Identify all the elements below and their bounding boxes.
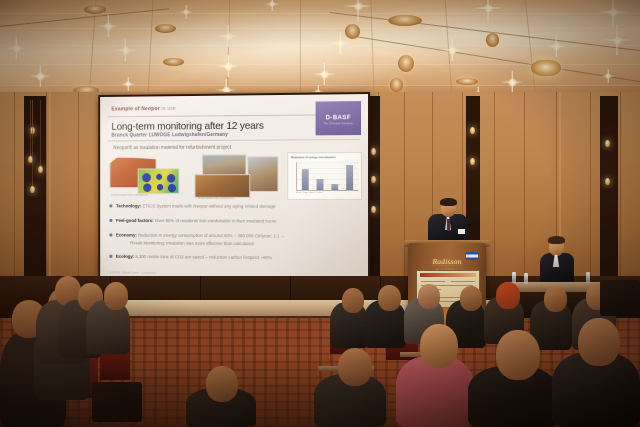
pendant-light: [470, 158, 475, 165]
slide-bullet-3-continuation: Result Monitoring: insulation was more e…: [130, 240, 253, 246]
pendant-light: [605, 140, 610, 147]
bullet-4-key: Ecology:: [116, 254, 134, 259]
bullet-1-key: Technology:: [116, 203, 141, 208]
bullet-3-value: Reduction in energy consumption of aroun…: [138, 233, 285, 239]
slide-title: Long-term monitoring after 12 years: [111, 120, 263, 133]
pendant-light: [30, 186, 35, 193]
slide-eyebrow: Example of Neopor in use: [111, 106, 176, 112]
ceiling: [0, 0, 640, 97]
equipment-case: [600, 280, 640, 316]
slide-photo-thermal-map: [138, 168, 180, 193]
presenter-name-badge: [458, 229, 465, 234]
slide-eyebrow-light: in use: [160, 106, 176, 112]
projection-screen: Example of Neopor in use Long-term monit…: [98, 92, 370, 282]
conference-room-photo: Example of Neopor in use Long-term monit…: [0, 0, 640, 427]
audience-head: [420, 324, 458, 368]
radisson-flag-icon: [466, 252, 478, 260]
audience-head: [496, 330, 540, 380]
wall-alcove: [466, 96, 480, 256]
laptop-bag: [92, 382, 142, 422]
audience-head: [206, 366, 238, 402]
radisson-wordmark: Radisson: [432, 257, 461, 266]
bullet-3-key: Economy:: [116, 233, 137, 238]
water-bottle: [524, 273, 528, 284]
audience-head: [578, 318, 620, 366]
slide-chart-title: Reduction of energy consumption: [291, 155, 336, 159]
slide-subtitle: Brunck Quarter LUWOGE Ludwigshafen/Germa…: [111, 132, 228, 139]
pendant-fixture: [345, 24, 360, 39]
audience-head: [460, 286, 482, 311]
chandelier: [531, 60, 561, 76]
slide-photo-building-1: [202, 154, 246, 176]
photo-caption-brick: Existing facade before refurbishment: [111, 194, 148, 197]
presentation-slide: Example of Neopor in use Long-term monit…: [100, 94, 368, 280]
pendant-fixture: [398, 55, 414, 72]
slide-eyebrow-bold: Example of Neopor: [111, 106, 159, 112]
pendant-light: [470, 127, 475, 134]
audience-head: [378, 285, 401, 311]
pendant-light: [371, 176, 376, 183]
recessed-downlight: [388, 15, 422, 26]
pendant-fixture: [390, 78, 403, 92]
audience-head: [104, 282, 128, 310]
bullet-1-value: ETICS System made with Neopor without an…: [142, 204, 275, 209]
bullet-marker-icon: [109, 234, 112, 237]
recessed-downlight: [163, 58, 184, 66]
basf-logo-text: D·BASF: [316, 114, 361, 121]
slide-chart: Reduction of energy consumption Before T…: [287, 152, 362, 200]
presenter-hair: [440, 198, 457, 206]
wall-alcove: [24, 96, 46, 292]
wall-alcove: [600, 96, 618, 286]
audience-head-red-hair: [496, 282, 520, 309]
panelist-hair: [548, 236, 565, 244]
bullet-marker-icon: [109, 205, 112, 208]
slide-footer: LUWOGE · Brunck Quarter · Ludwigshafen: [109, 271, 156, 274]
bullet-marker-icon: [109, 255, 112, 258]
slide-photo-building-2: [247, 156, 278, 192]
basf-logo: D·BASF The Chemical Company: [316, 101, 361, 135]
basf-logo-tagline: The Chemical Company: [316, 122, 361, 125]
recessed-downlight: [456, 78, 478, 85]
slide-photo-building-3: [195, 174, 251, 198]
bullet-2-value: Over 90% of residents feel comfortable i…: [155, 218, 277, 223]
pendant-light: [371, 206, 376, 213]
slide-bullet-2: Feel-good factors: Over 90% of residents…: [109, 218, 360, 224]
water-bottle: [512, 272, 516, 283]
water-bottle: [586, 272, 590, 283]
slide-lead-line: Neopor® as insulation material for refur…: [113, 145, 231, 151]
bullet-2-key: Feel-good factors:: [116, 218, 154, 223]
radisson-branding: Radisson BLU HOTEL: [418, 251, 476, 265]
audience-head: [418, 284, 440, 309]
bullet-marker-icon: [109, 219, 112, 222]
bullet-4-value: 8,300 metric tons of CO2 are saved – red…: [135, 254, 272, 260]
slide-chart-plot: [296, 162, 358, 191]
recessed-downlight: [84, 5, 106, 14]
pendant-light: [371, 148, 376, 155]
slide-chart-axis-labels: Before Target Actual Passive: [296, 192, 323, 194]
audience-head: [342, 288, 364, 313]
slide-bullet-3: Economy: Reduction in energy consumption…: [109, 233, 360, 239]
slide-bullet-1: Technology: ETICS System made with Neopo…: [109, 203, 360, 209]
photo-caption-buildings: Brunck Quarter after refurbishment: [198, 197, 233, 200]
slide-bullet-4: Ecology: 8,300 metric tons of CO2 are sa…: [109, 254, 360, 261]
audience-head: [338, 348, 372, 386]
pendant-fixture: [486, 33, 499, 47]
pendant-light: [605, 178, 610, 185]
recessed-downlight: [155, 24, 176, 33]
pendant-light: [38, 166, 43, 173]
audience-head: [544, 286, 567, 312]
presenter-tie: [447, 219, 450, 231]
